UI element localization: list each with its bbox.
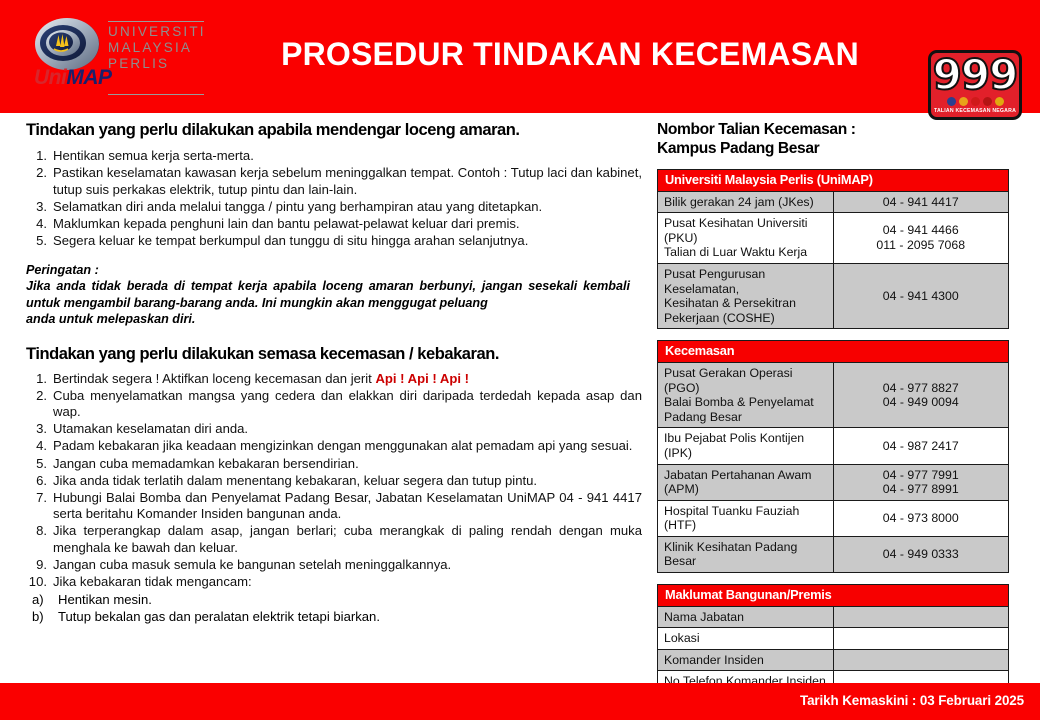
page-title: PROSEDUR TINDAKAN KECEMASAN	[225, 36, 915, 73]
unimap-wordblock: UNIVERSITI MALAYSIA PERLIS	[108, 24, 208, 72]
item-number: 10.	[26, 574, 47, 591]
contact-number: 04 - 941 4417	[833, 191, 1009, 213]
civil-defence-icon	[995, 97, 1004, 106]
note-body: Jika anda tidak berada di tempat kerja a…	[26, 278, 630, 328]
table-header-maklumat: Maklumat Bangunan/Premis	[658, 585, 1009, 607]
list-item: 10. Jika kebakaran tidak mengancam:	[26, 574, 642, 591]
section2-sublist: a) Hentikan mesin. b) Tutup bekalan gas …	[26, 591, 642, 625]
wordmark-uni: Uni	[34, 66, 66, 89]
badge-number: 999	[931, 49, 1019, 101]
list-item: 2. Pastikan keselamatan kawasan kerja se…	[26, 165, 642, 198]
table-row: Nama Jabatan	[658, 606, 1009, 628]
note-label: Peringatan :	[26, 262, 630, 279]
fire-icon	[959, 97, 968, 106]
contacts-title-line2: Kampus Padang Besar	[657, 139, 1009, 158]
list-item: 8. Jika terperangkap dalam asap, jangan …	[26, 523, 642, 556]
item-number: 4.	[26, 438, 47, 455]
item-number: 2.	[26, 165, 47, 182]
field-label: Lokasi	[658, 628, 834, 650]
list-item: 7. Hubungi Balai Bomba dan Penyelamat Pa…	[26, 490, 642, 523]
table-kecemasan: Kecemasan Pusat Gerakan Operasi (PGO) Ba…	[657, 340, 1009, 573]
table-header-kecemasan: Kecemasan	[658, 341, 1009, 363]
table-row: Ibu Pejabat Polis Kontijen (IPK) 04 - 98…	[658, 428, 1009, 464]
field-label: Nama Jabatan	[658, 606, 834, 628]
contact-label: Bilik gerakan 24 jam (JKes)	[658, 191, 834, 213]
item-number: 2.	[26, 388, 47, 405]
item-number: 3.	[26, 199, 47, 216]
logo-line-universiti: UNIVERSITI	[108, 24, 208, 40]
table-row: Jabatan Pertahanan Awam (APM) 04 - 977 7…	[658, 464, 1009, 500]
item-text: Jangan cuba memadamkan kebakaran bersend…	[53, 456, 359, 471]
unimap-emblem-icon	[34, 16, 100, 72]
item-text: Segera keluar ke tempat berkumpul dan tu…	[53, 233, 528, 248]
table-row: Bilik gerakan 24 jam (JKes) 04 - 941 441…	[658, 191, 1009, 213]
table-row: Hospital Tuanku Fauziah (HTF) 04 - 973 8…	[658, 500, 1009, 536]
list-item: 1. Bertindak segera ! Aktifkan loceng ke…	[26, 371, 642, 388]
contact-number: 04 - 977 8827 04 - 949 0094	[833, 362, 1009, 427]
item-text: Hentikan mesin.	[58, 592, 152, 607]
item-number: 1.	[26, 148, 47, 165]
item-text: Pastikan keselamatan kawasan kerja sebel…	[53, 165, 642, 197]
note-body-last: anda untuk melepaskan diri.	[26, 311, 630, 328]
table-maklumat-bangunan: Maklumat Bangunan/Premis Nama Jabatan Lo…	[657, 584, 1009, 693]
item-number: 1.	[26, 371, 47, 388]
contact-label: Pusat Pengurusan Keselamatan, Kesihatan …	[658, 263, 834, 328]
contact-label: Klinik Kesihatan Padang Besar	[658, 536, 834, 572]
table-row: Lokasi	[658, 628, 1009, 650]
ambulance-icon	[983, 97, 992, 106]
list-item: 2. Cuba menyelamatkan mangsa yang cedera…	[26, 388, 642, 421]
table-row: Klinik Kesihatan Padang Besar 04 - 949 0…	[658, 536, 1009, 572]
unimap-wordmark: UniMAP	[34, 66, 112, 90]
field-label: Komander Insiden	[658, 649, 834, 671]
list-item: 9. Jangan cuba masuk semula ke bangunan …	[26, 557, 642, 574]
poster-header: UNIVERSITI MALAYSIA PERLIS UniMAP PROSED…	[0, 0, 1040, 113]
last-updated-text: Tarikh Kemaskini : 03 Februari 2025	[800, 693, 1024, 708]
contact-number: 04 - 941 4466 011 - 2095 7068	[833, 213, 1009, 264]
poster-footer: Tarikh Kemaskini : 03 Februari 2025	[0, 683, 1040, 720]
table-row: Pusat Gerakan Operasi (PGO) Balai Bomba …	[658, 362, 1009, 427]
field-value-lokasi[interactable]	[833, 628, 1009, 650]
section1-list: 1. Hentikan semua kerja serta-merta. 2. …	[26, 148, 642, 250]
table-header-row: Maklumat Bangunan/Premis	[658, 585, 1009, 607]
wordmark-map: MAP	[66, 66, 111, 89]
item-number: a)	[32, 591, 50, 608]
unimap-logo: UNIVERSITI MALAYSIA PERLIS UniMAP	[28, 14, 208, 104]
item-text: Jika anda tidak terlatih dalam menentang…	[53, 473, 537, 488]
list-item: 3. Utamakan keselamatan diri anda.	[26, 421, 642, 438]
item-text: Jika terperangkap dalam asap, jangan ber…	[53, 523, 642, 555]
item-text: Tutup bekalan gas dan peralatan elektrik…	[58, 609, 380, 624]
logo-line-malaysia: MALAYSIA	[108, 40, 208, 56]
section2-title: Tindakan yang perlu dilakukan semasa kec…	[26, 344, 642, 365]
contact-label: Jabatan Pertahanan Awam (APM)	[658, 464, 834, 500]
item-number: 8.	[26, 523, 47, 540]
item-number: 4.	[26, 216, 47, 233]
contact-label: Hospital Tuanku Fauziah (HTF)	[658, 500, 834, 536]
section2-list: 1. Bertindak segera ! Aktifkan loceng ke…	[26, 371, 642, 591]
item-number: 5.	[26, 456, 47, 473]
table-header-row: Kecemasan	[658, 341, 1009, 363]
table-row: Pusat Pengurusan Keselamatan, Kesihatan …	[658, 263, 1009, 328]
crescent-icon	[971, 97, 980, 106]
item-highlight: Api ! Api ! Api !	[375, 371, 469, 386]
item-number: b)	[32, 608, 50, 625]
item-text: Jika kebakaran tidak mengancam:	[53, 574, 252, 589]
item-number: 5.	[26, 233, 47, 250]
list-item: a) Hentikan mesin.	[26, 591, 642, 608]
contact-label: Pusat Kesihatan Universiti (PKU) Talian …	[658, 213, 834, 264]
poster-page: UNIVERSITI MALAYSIA PERLIS UniMAP PROSED…	[0, 0, 1040, 720]
table-header-row: Universiti Malaysia Perlis (UniMAP)	[658, 170, 1009, 192]
table-row: Komander Insiden	[658, 649, 1009, 671]
logo-line-perlis: PERLIS	[108, 56, 208, 72]
item-text: Cuba menyelamatkan mangsa yang cedera da…	[53, 388, 642, 420]
logo-rule-top	[108, 21, 204, 22]
item-text: Bertindak segera ! Aktifkan loceng kecem…	[53, 371, 375, 386]
contact-number: 04 - 949 0333	[833, 536, 1009, 572]
item-text: Maklumkan kepada penghuni lain dan bantu…	[53, 216, 520, 231]
item-text: Utamakan keselamatan diri anda.	[53, 421, 248, 436]
table-row: Pusat Kesihatan Universiti (PKU) Talian …	[658, 213, 1009, 264]
item-number: 6.	[26, 473, 47, 490]
list-item: 5. Segera keluar ke tempat berkumpul dan…	[26, 233, 642, 250]
note-body-text: Jika anda tidak berada di tempat kerja a…	[26, 279, 630, 310]
list-item: b) Tutup bekalan gas dan peralatan elekt…	[26, 608, 642, 625]
table-header-unimap: Universiti Malaysia Perlis (UniMAP)	[658, 170, 1009, 192]
list-item: 4. Padam kebakaran jika keadaan mengizin…	[26, 438, 642, 455]
field-value-nama-jabatan[interactable]	[833, 606, 1009, 628]
list-item: 1. Hentikan semua kerja serta-merta.	[26, 148, 642, 165]
badge-agency-icons	[931, 97, 1019, 106]
item-text: Selamatkan diri anda melalui tangga / pi…	[53, 199, 542, 214]
list-item: 3. Selamatkan diri anda melalui tangga /…	[26, 199, 642, 216]
list-item: 4. Maklumkan kepada penghuni lain dan ba…	[26, 216, 642, 233]
contacts-column: Nombor Talian Kecemasan : Kampus Padang …	[657, 120, 1009, 693]
emergency-999-badge: 999 TALIAN KECEMASAN NEGARA	[928, 50, 1022, 120]
list-item: 6. Jika anda tidak terlatih dalam menent…	[26, 473, 642, 490]
contact-label: Ibu Pejabat Polis Kontijen (IPK)	[658, 428, 834, 464]
contact-number: 04 - 941 4300	[833, 263, 1009, 328]
item-text: Padam kebakaran jika keadaan mengizinkan…	[53, 438, 632, 453]
procedures-column: Tindakan yang perlu dilakukan apabila me…	[26, 120, 642, 625]
item-number: 7.	[26, 490, 47, 507]
list-item: 5. Jangan cuba memadamkan kebakaran bers…	[26, 456, 642, 473]
item-number: 3.	[26, 421, 47, 438]
logo-rule-bottom	[108, 94, 204, 95]
contact-number: 04 - 977 7991 04 - 977 8991	[833, 464, 1009, 500]
contact-number: 04 - 987 2417	[833, 428, 1009, 464]
contacts-title-line1: Nombor Talian Kecemasan :	[657, 120, 1009, 139]
item-text: Hubungi Balai Bomba dan Penyelamat Padan…	[53, 490, 642, 522]
police-icon	[947, 97, 956, 106]
item-text: Jangan cuba masuk semula ke bangunan set…	[53, 557, 451, 572]
field-value-komander-insiden[interactable]	[833, 649, 1009, 671]
contact-label: Pusat Gerakan Operasi (PGO) Balai Bomba …	[658, 362, 834, 427]
contacts-title: Nombor Talian Kecemasan : Kampus Padang …	[657, 120, 1009, 158]
section1-title: Tindakan yang perlu dilakukan apabila me…	[26, 120, 642, 141]
item-number: 9.	[26, 557, 47, 574]
warning-note: Peringatan : Jika anda tidak berada di t…	[26, 262, 630, 328]
contact-number: 04 - 973 8000	[833, 500, 1009, 536]
badge-caption: TALIAN KECEMASAN NEGARA	[931, 108, 1019, 114]
item-text: Hentikan semua kerja serta-merta.	[53, 148, 254, 163]
table-unimap: Universiti Malaysia Perlis (UniMAP) Bili…	[657, 169, 1009, 329]
